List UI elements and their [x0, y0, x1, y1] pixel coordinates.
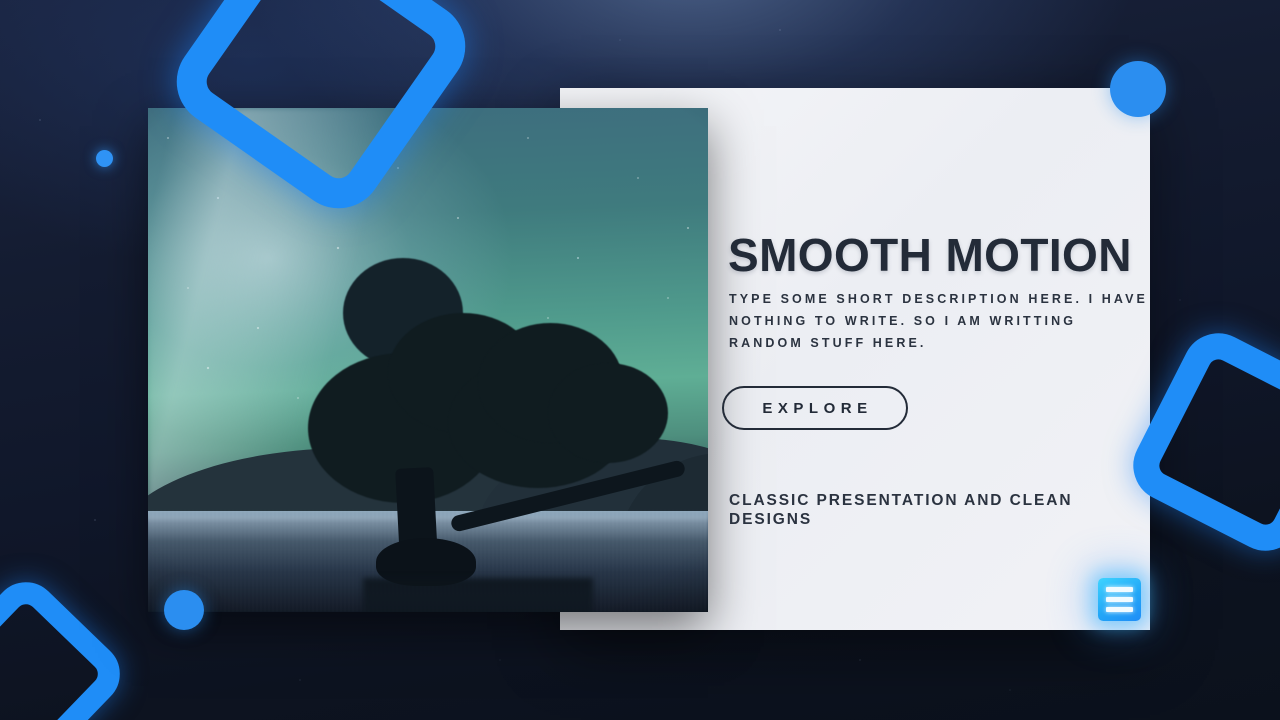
accent-circle-top-right-icon: [1110, 61, 1166, 117]
slide-canvas: SMOOTH MOTION TYPE SOME SHORT DESCRIPTIO…: [0, 0, 1280, 720]
hero-photo: [148, 108, 708, 612]
accent-dot-left-icon: [96, 150, 113, 167]
hamburger-menu-icon[interactable]: [1098, 578, 1141, 621]
menu-bar: [1106, 607, 1133, 612]
square-frame-bottom-left-icon: [0, 569, 133, 720]
accent-circle-bottom-left-icon: [164, 590, 204, 630]
page-title: SMOOTH MOTION: [728, 228, 1132, 282]
description-text: TYPE SOME SHORT DESCRIPTION HERE. I HAVE…: [729, 288, 1149, 354]
tagline-text: CLASSIC PRESENTATION AND CLEAN DESIGNS: [729, 491, 1119, 529]
photo-vignette: [148, 108, 708, 612]
menu-bar: [1106, 597, 1133, 602]
menu-bar: [1106, 587, 1133, 592]
explore-button[interactable]: EXPLORE: [722, 386, 908, 430]
